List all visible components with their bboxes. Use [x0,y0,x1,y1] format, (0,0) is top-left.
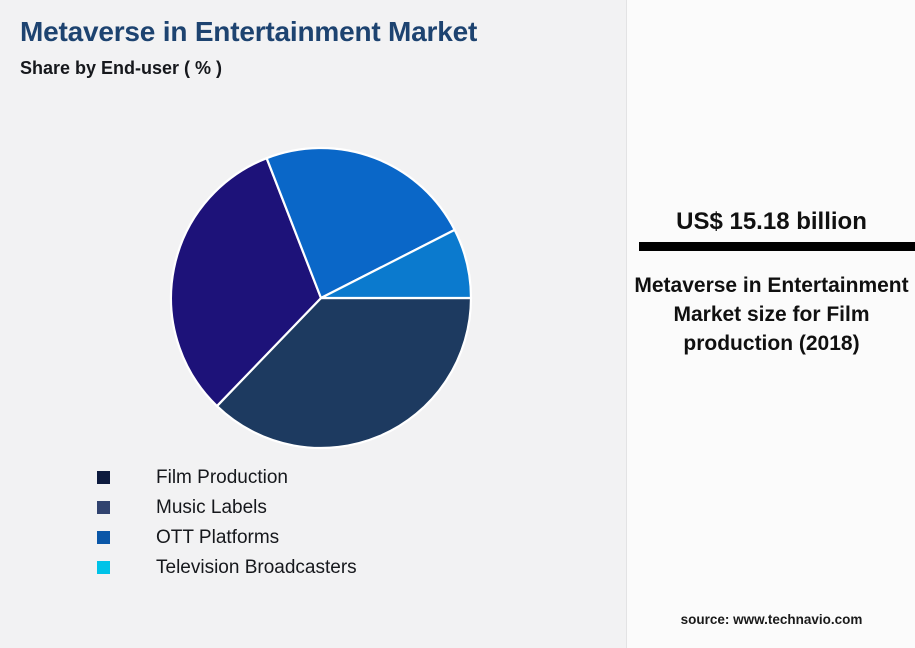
pie-chart [166,143,476,453]
legend-swatch-icon [97,531,110,544]
infographic-canvas: Metaverse in Entertainment Market Share … [0,0,915,648]
legend-swatch-icon [97,561,110,574]
chart-panel: Metaverse in Entertainment Market Share … [0,0,620,648]
legend-item: Music Labels [97,492,527,522]
legend-item-label: Television Broadcasters [156,558,357,577]
legend-swatch-icon [97,501,110,514]
legend-item-label: Film Production [156,468,288,487]
callout-divider [639,242,915,251]
legend-item-label: OTT Platforms [156,528,279,547]
source-attribution: source: www.technavio.com [627,612,915,627]
callout-description: Metaverse in Entertainment Market size f… [627,271,915,358]
legend-swatch-icon [97,471,110,484]
chart-legend: Film ProductionMusic LabelsOTT Platforms… [97,462,527,582]
callout-block: US$ 15.18 billion Metaverse in Entertain… [627,208,915,358]
callout-panel: US$ 15.18 billion Metaverse in Entertain… [626,0,915,648]
legend-item: Film Production [97,462,527,492]
legend-item-label: Music Labels [156,498,267,517]
chart-subtitle: Share by End-user ( % ) [20,58,222,79]
pie-chart-svg [166,143,476,453]
page-title: Metaverse in Entertainment Market [20,16,477,48]
pie-slice-group [171,148,471,448]
legend-item: OTT Platforms [97,522,527,552]
callout-value: US$ 15.18 billion [627,208,915,242]
legend-item: Television Broadcasters [97,552,527,582]
